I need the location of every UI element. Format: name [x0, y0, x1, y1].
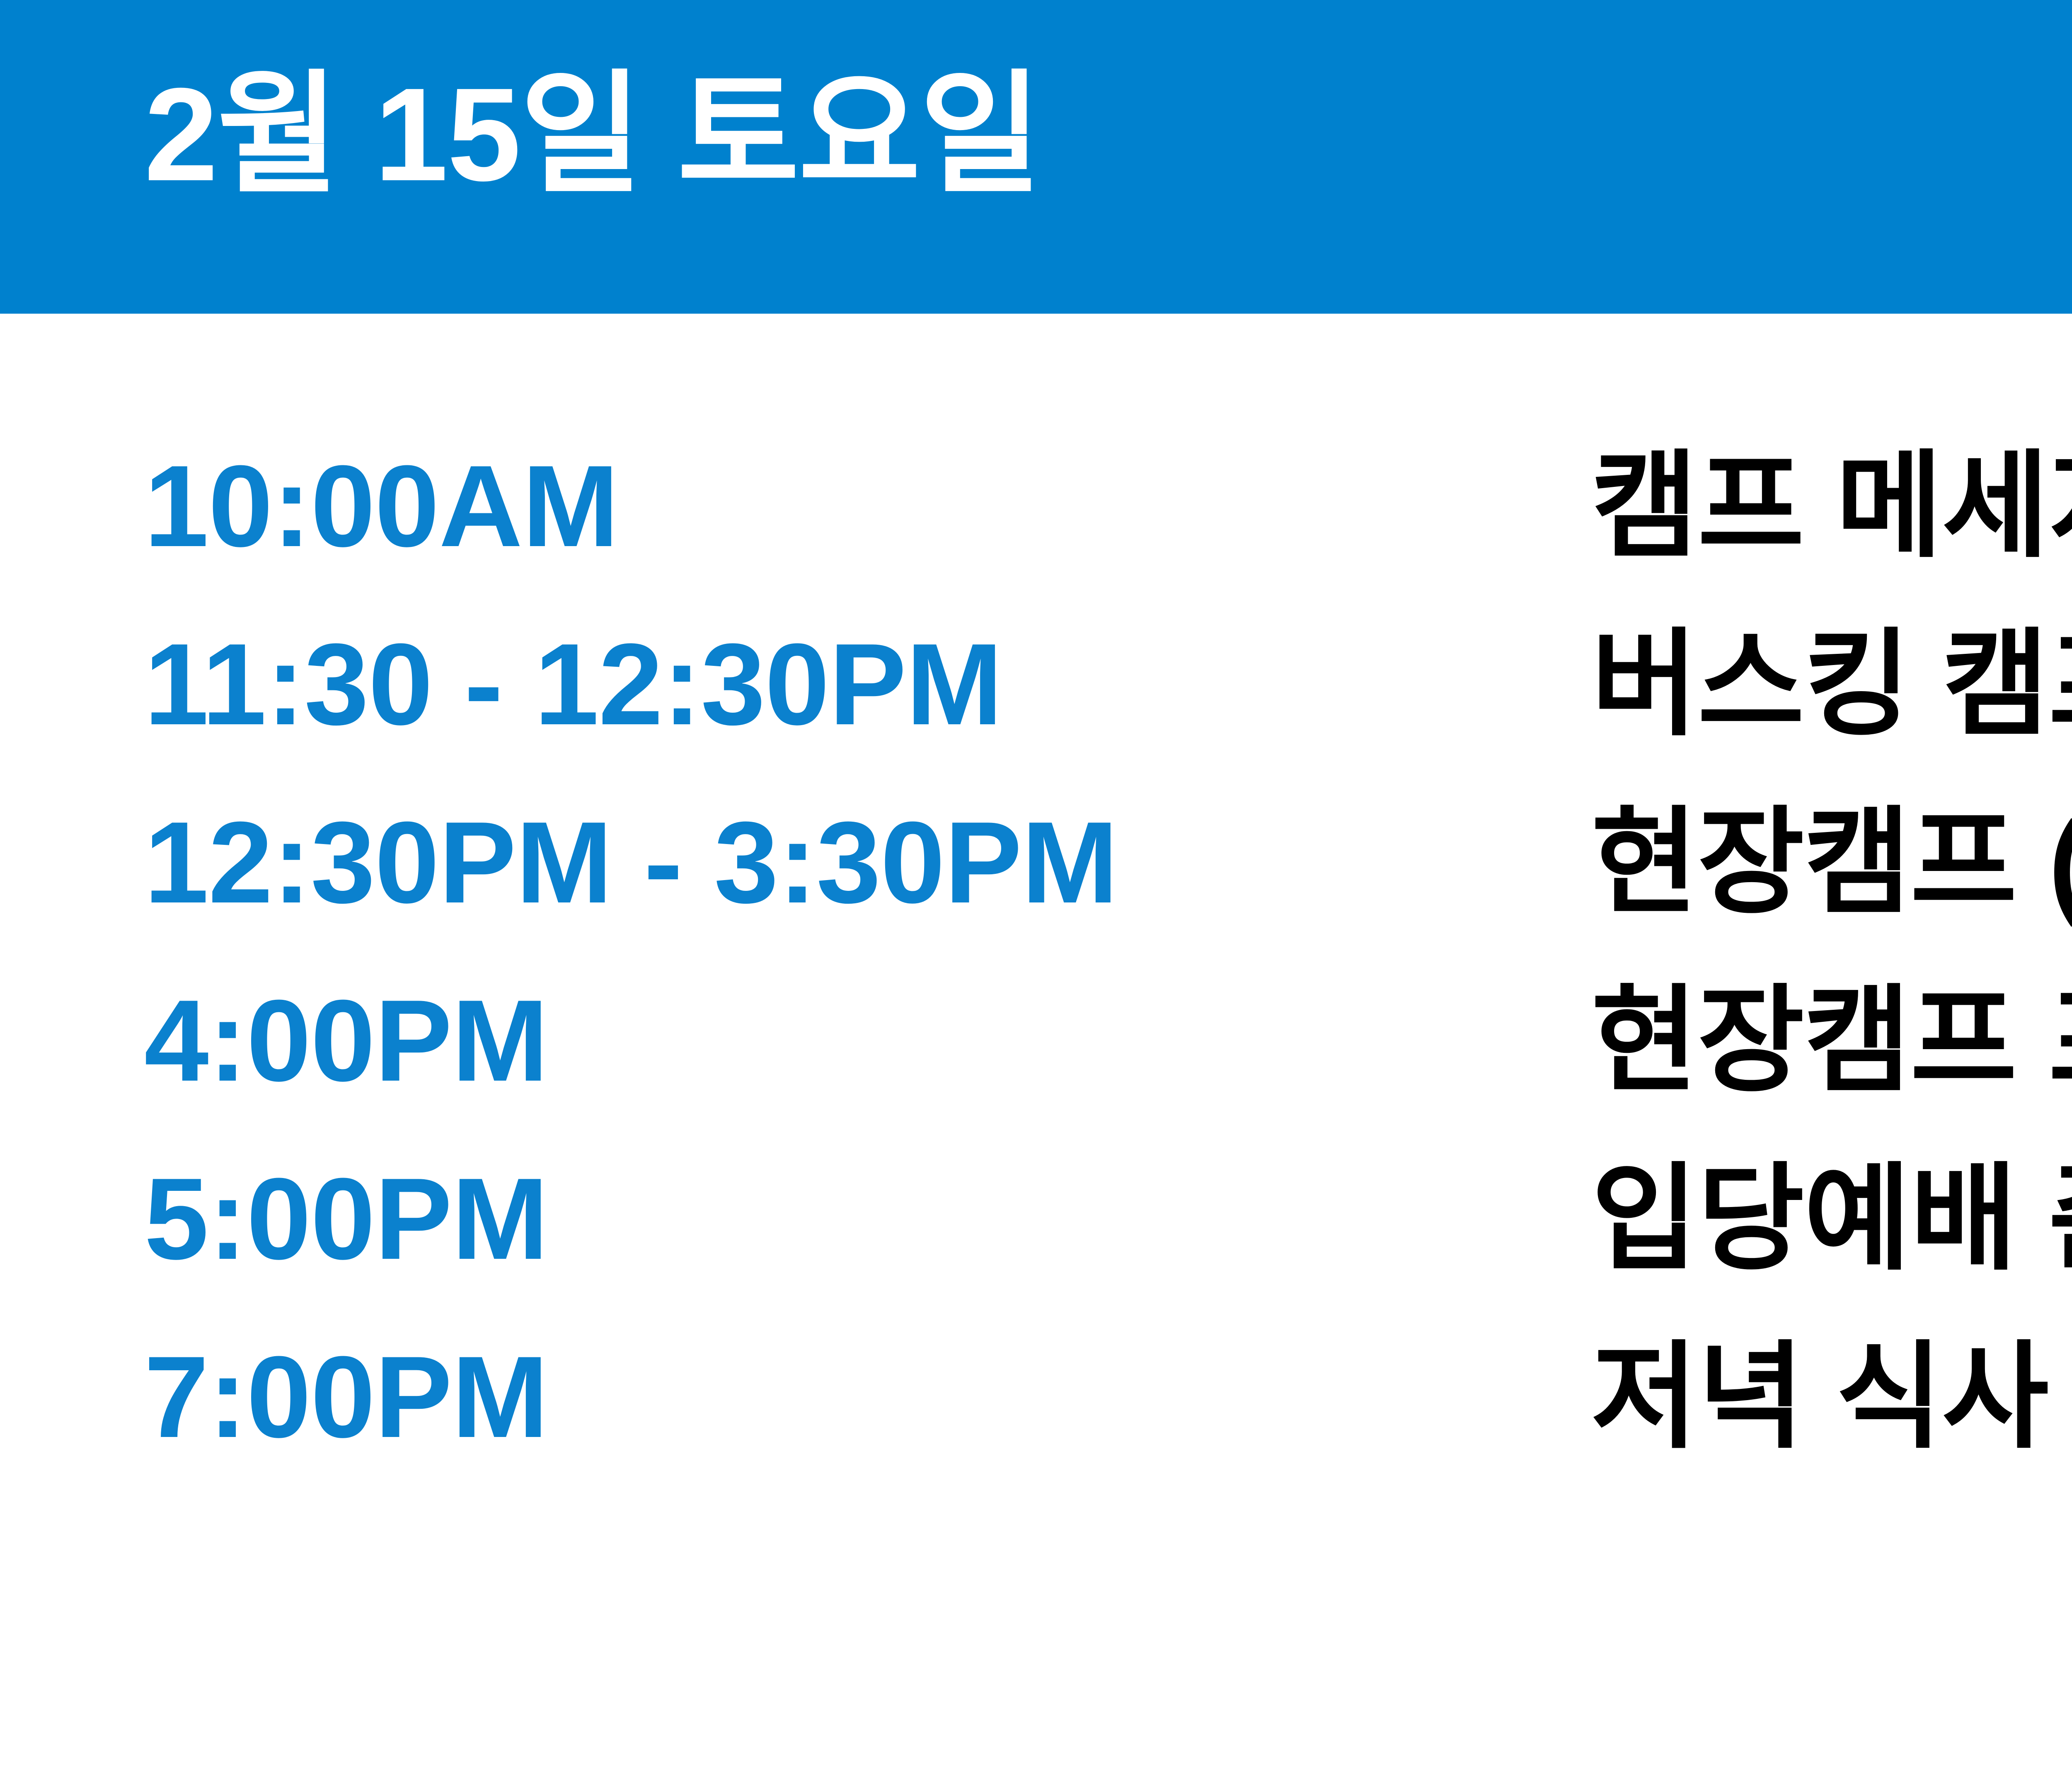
- schedule-section: 10:00AM 캠프 메세지 3강 (교회) 11:30 - 12:30PM 버…: [0, 314, 2072, 1790]
- schedule-top-spacer: [0, 314, 2072, 417]
- schedule-event: 저녁 식사 (바베큐): [1591, 1308, 2072, 1486]
- schedule-time: 5:00PM: [0, 1130, 1591, 1308]
- table-row: 11:30 - 12:30PM 버스킹 캠프 (웨스트 시티 몰): [0, 595, 2072, 774]
- table-row: 7:00PM 저녁 식사 (바베큐): [0, 1308, 2072, 1486]
- schedule-table-body: 10:00AM 캠프 메세지 3강 (교회) 11:30 - 12:30PM 버…: [0, 314, 2072, 1486]
- schedule-event: 캠프 메세지 3강 (교회): [1591, 417, 2072, 595]
- schedule-table: 10:00AM 캠프 메세지 3강 (교회) 11:30 - 12:30PM 버…: [0, 314, 2072, 1486]
- schedule-time: 7:00PM: [0, 1308, 1591, 1486]
- schedule-event: 버스킹 캠프 (웨스트 시티 몰): [1591, 595, 2072, 774]
- schedule-time: 10:00AM: [0, 417, 1591, 595]
- schedule-event: 현장캠프 (현장): [1591, 774, 2072, 952]
- schedule-slide: 2월 15일 토요일 10:00AM 캠프 메세지 3강 (교회) 11:30 …: [0, 0, 2072, 1790]
- header-band: 2월 15일 토요일: [0, 0, 2072, 314]
- table-row: 10:00AM 캠프 메세지 3강 (교회): [0, 417, 2072, 595]
- schedule-time: 12:30PM - 3:30PM: [0, 774, 1591, 952]
- schedule-event: 입당예배 준비 및 리허설: [1591, 1130, 2072, 1308]
- schedule-time: 4:00PM: [0, 952, 1591, 1130]
- table-row: 12:30PM - 3:30PM 현장캠프 (현장): [0, 774, 2072, 952]
- table-row: 4:00PM 현장캠프 포럼 (교회): [0, 952, 2072, 1130]
- spacer-cell-time: [0, 314, 1591, 417]
- spacer-cell-event: [1591, 314, 2072, 417]
- table-row: 5:00PM 입당예배 준비 및 리허설: [0, 1130, 2072, 1308]
- schedule-time: 11:30 - 12:30PM: [0, 595, 1591, 774]
- schedule-event: 현장캠프 포럼 (교회): [1591, 952, 2072, 1130]
- page-title: 2월 15일 토요일: [144, 68, 1041, 201]
